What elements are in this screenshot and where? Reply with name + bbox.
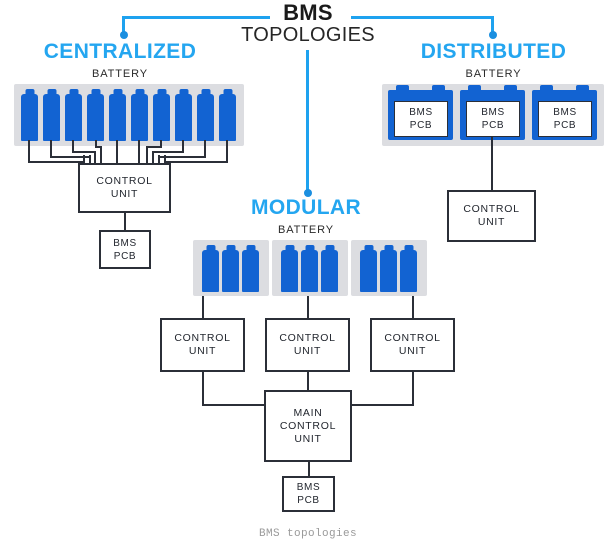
modular-main-to-pcb-wire bbox=[308, 462, 310, 476]
distributed-bms-pcb[interactable]: BMS PCB bbox=[394, 101, 448, 137]
harness-wire bbox=[152, 151, 184, 153]
distributed-module-to-cu-wire bbox=[491, 137, 493, 190]
battery-cell bbox=[109, 89, 126, 141]
modular-main-control-unit-label: MAIN CONTROL UNIT bbox=[280, 407, 336, 446]
harness-wire bbox=[28, 161, 85, 163]
harness-wire bbox=[138, 140, 140, 164]
section-heading-centralized: CENTRALIZED bbox=[10, 40, 230, 64]
battery-cell bbox=[222, 245, 239, 292]
centralized-control-unit-label: CONTROL UNIT bbox=[96, 175, 152, 201]
centralized-bms-pcb-label: BMS PCB bbox=[113, 237, 136, 263]
harness-wire bbox=[164, 161, 228, 163]
connector-right-dot bbox=[489, 31, 497, 39]
battery-cell bbox=[153, 89, 170, 141]
modular-cu-to-main-wire bbox=[412, 372, 414, 406]
centralized-bms-pcb[interactable]: BMS PCB bbox=[99, 230, 151, 269]
modular-cu-to-main-wire bbox=[202, 372, 204, 406]
modular-control-unit-label: CONTROL UNIT bbox=[384, 332, 440, 358]
modular-cu-to-main-wire bbox=[351, 404, 414, 406]
modular-bms-pcb[interactable]: BMS PCB bbox=[282, 476, 335, 512]
harness-wire bbox=[28, 140, 30, 163]
battery-cell bbox=[400, 245, 417, 292]
modular-main-control-unit[interactable]: MAIN CONTROL UNIT bbox=[264, 390, 352, 462]
battery-cell bbox=[380, 245, 397, 292]
bms-topologies-diagram: BMS TOPOLOGIES CENTRALIZED BATTERY bbox=[0, 0, 616, 549]
battery-cell bbox=[175, 89, 192, 141]
centralized-control-unit[interactable]: CONTROL UNIT bbox=[78, 163, 171, 213]
page-title-bms: BMS bbox=[0, 2, 616, 24]
modular-control-unit[interactable]: CONTROL UNIT bbox=[160, 318, 245, 372]
battery-cell bbox=[131, 89, 148, 141]
battery-cell bbox=[321, 245, 338, 292]
distributed-battery-label: BATTERY bbox=[381, 68, 606, 81]
section-heading-distributed: DISTRIBUTED bbox=[381, 40, 606, 64]
connector-left-horizontal bbox=[122, 16, 270, 19]
modular-bms-pcb-label: BMS PCB bbox=[297, 481, 320, 507]
battery-cell bbox=[301, 245, 318, 292]
distributed-bms-pcb-label: BMS PCB bbox=[481, 106, 504, 132]
modular-group-to-cu-wire bbox=[202, 296, 204, 318]
battery-cell bbox=[21, 89, 38, 141]
distributed-bms-pcb[interactable]: BMS PCB bbox=[466, 101, 520, 137]
modular-cu-to-main-wire bbox=[307, 372, 309, 391]
distributed-bms-pcb-label: BMS PCB bbox=[553, 106, 576, 132]
harness-wire bbox=[72, 151, 96, 153]
battery-cell bbox=[87, 89, 104, 141]
distributed-control-unit-label: CONTROL UNIT bbox=[463, 203, 519, 229]
harness-wire bbox=[146, 146, 148, 164]
centralized-cu-to-pcb-wire bbox=[124, 213, 126, 230]
modular-cu-to-main-wire bbox=[202, 404, 265, 406]
battery-cell bbox=[197, 89, 214, 141]
connector-right-horizontal bbox=[351, 16, 494, 19]
modular-control-unit[interactable]: CONTROL UNIT bbox=[265, 318, 350, 372]
harness-wire bbox=[100, 146, 102, 164]
battery-cell bbox=[360, 245, 377, 292]
harness-wire bbox=[226, 140, 228, 163]
harness-wire bbox=[146, 146, 162, 148]
distributed-bms-pcb-label: BMS PCB bbox=[409, 106, 432, 132]
modular-group-to-cu-wire bbox=[307, 296, 309, 318]
battery-cell bbox=[65, 89, 82, 141]
modular-group-to-cu-wire bbox=[412, 296, 414, 318]
section-heading-modular: MODULAR bbox=[196, 196, 416, 220]
modular-control-unit-label: CONTROL UNIT bbox=[174, 332, 230, 358]
distributed-control-unit[interactable]: CONTROL UNIT bbox=[447, 190, 536, 242]
modular-control-unit[interactable]: CONTROL UNIT bbox=[370, 318, 455, 372]
distributed-bms-pcb[interactable]: BMS PCB bbox=[538, 101, 592, 137]
modular-battery-label: BATTERY bbox=[196, 224, 416, 237]
battery-cell bbox=[219, 89, 236, 141]
harness-wire bbox=[116, 140, 118, 164]
figure-caption: BMS topologies bbox=[0, 528, 616, 540]
battery-cell bbox=[43, 89, 60, 141]
battery-cell bbox=[281, 245, 298, 292]
connector-left-dot bbox=[120, 31, 128, 39]
battery-cell bbox=[242, 245, 259, 292]
connector-center-vertical bbox=[306, 50, 309, 193]
centralized-battery-label: BATTERY bbox=[10, 68, 230, 81]
modular-control-unit-label: CONTROL UNIT bbox=[279, 332, 335, 358]
battery-cell bbox=[202, 245, 219, 292]
harness-wire bbox=[50, 156, 91, 158]
